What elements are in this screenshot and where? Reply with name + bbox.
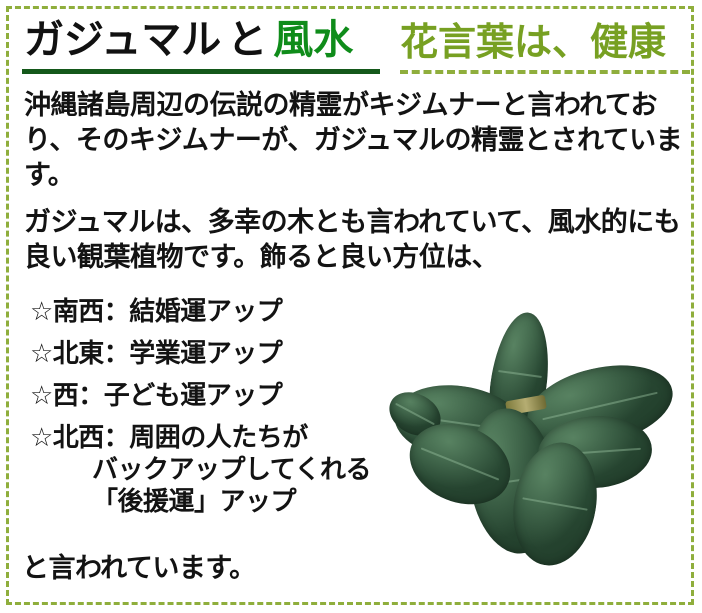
- page-title: ガジュマルと風水: [24, 16, 353, 64]
- bullet-line-primary: ☆南西：結婚運アップ: [30, 297, 282, 327]
- page-subtitle-underline: [400, 70, 690, 74]
- infographic-page: ガジュマルと風水 花言葉は、健康 沖縄諸島周辺の伝説の精霊がキジムナーと言われて…: [0, 0, 702, 613]
- bullet-line-primary: ☆北東：学業運アップ: [30, 339, 282, 369]
- page-title-conjunction: と: [221, 17, 273, 63]
- header: ガジュマルと風水 花言葉は、健康: [0, 16, 702, 80]
- closing-sentence: と言われています。: [22, 552, 256, 586]
- gajumaru-leaf-photo: [388, 312, 688, 578]
- page-title-part-1: ガジュマル: [24, 17, 221, 63]
- paragraph-fengshui: ガジュマルは、多幸の木とも言われていて、風水的にも良い観葉植物です。飾ると良い方…: [24, 205, 684, 275]
- page-title-part-2: 風水: [273, 17, 353, 63]
- bullet-line-primary: ☆北西：周囲の人たちが: [30, 423, 308, 453]
- paragraph-legend: 沖縄諸島周辺の伝説の精霊がキジムナーと言われており、そのキジムナーが、ガジュマル…: [24, 88, 684, 193]
- page-title-underline: [22, 69, 380, 74]
- page-subtitle: 花言葉は、健康: [400, 18, 666, 66]
- bullet-line-primary: ☆西：子ども運アップ: [30, 381, 282, 411]
